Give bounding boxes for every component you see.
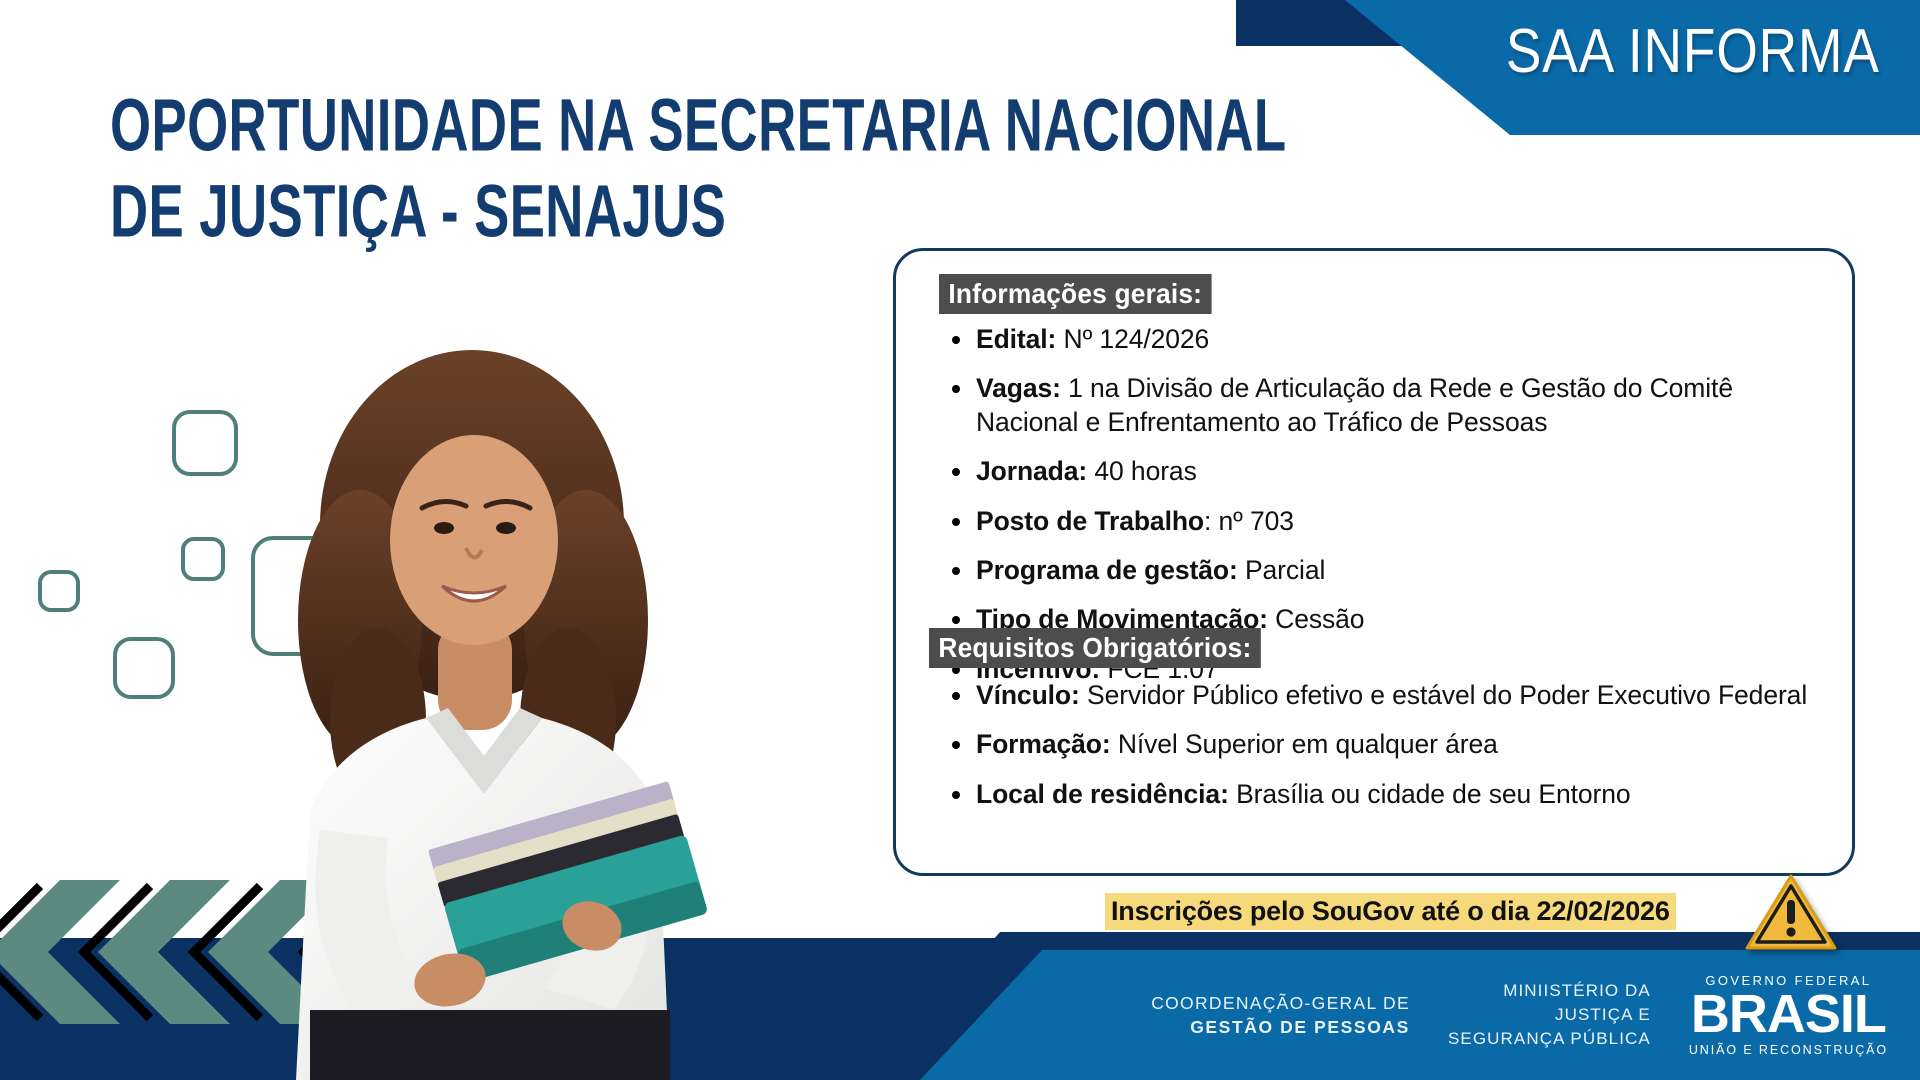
posto-value: : nº 703 — [1204, 506, 1294, 536]
inscription-deadline-text: Inscrições pelo SouGov até o dia 22/02/2… — [1105, 893, 1676, 930]
movimentacao-value: Cessão — [1275, 604, 1364, 634]
formacao-value: Nível Superior em qualquer área — [1118, 729, 1498, 759]
poster-canvas: SAA INFORMA OPORTUNIDADE NA SECRETARIA N… — [0, 0, 1920, 1080]
residencia-value: Brasília ou cidade de seu Entorno — [1236, 779, 1630, 809]
list-item-posto: Posto de Trabalho: nº 703 — [934, 505, 1834, 538]
page-title: OPORTUNIDADE NA SECRETARIA NACIONAL DE J… — [110, 82, 1287, 253]
info-card: Informações gerais: Edital: Nº 124/2026 … — [893, 248, 1855, 876]
warning-triangle-icon — [1745, 872, 1837, 952]
programa-value: Parcial — [1245, 555, 1325, 585]
list-item-edital: Edital: Nº 124/2026 — [934, 323, 1834, 356]
formacao-label: Formação: — [976, 729, 1111, 759]
requirements-list: Vínculo: Servidor Público efetivo e está… — [934, 679, 1834, 827]
cggp-line1: COORDENAÇÃO-GERAL DE — [1151, 993, 1410, 1013]
list-item-vagas: Vagas: 1 na Divisão de Articulação da Re… — [934, 372, 1834, 439]
residencia-label: Local de residência: — [976, 779, 1229, 809]
posto-label: Posto de Trabalho — [976, 506, 1204, 536]
vagas-label: Vagas: — [976, 373, 1061, 403]
list-item-residencia: Local de residência: Brasília ou cidade … — [934, 778, 1834, 811]
logo-brasil-gov: GOVERNO FEDERAL BRASIL UNIÃO E RECONSTRU… — [1689, 973, 1888, 1057]
list-item-formacao: Formação: Nível Superior em qualquer áre… — [934, 728, 1834, 761]
decorative-square — [38, 570, 80, 612]
logo-ministry: MINIISTÉRIO DA JUSTIÇA E SEGURANÇA PÚBLI… — [1448, 979, 1651, 1050]
ministry-line2: JUSTIÇA E — [1448, 1003, 1651, 1027]
ministry-line1: MINIISTÉRIO DA — [1448, 979, 1651, 1003]
list-item-jornada: Jornada: 40 horas — [934, 455, 1834, 488]
edital-value: Nº 124/2026 — [1064, 324, 1210, 354]
list-item-vinculo: Vínculo: Servidor Público efetivo e está… — [934, 679, 1834, 712]
footer-logos: COORDENAÇÃO-GERAL DE GESTÃO DE PESSOAS M… — [920, 950, 1920, 1080]
ministry-line3: SEGURANÇA PÚBLICA — [1448, 1027, 1651, 1051]
list-item-programa: Programa de gestão: Parcial — [934, 554, 1834, 587]
brasil-wordmark: BRASIL — [1689, 990, 1888, 1040]
cggp-line2: GESTÃO DE PESSOAS — [1151, 1015, 1410, 1039]
brasil-bottom-label: UNIÃO E RECONSTRUÇÃO — [1689, 1043, 1888, 1057]
section-header-general: Informações gerais: — [939, 274, 1212, 314]
vagas-value: 1 na Divisão de Articulação da Rede e Ge… — [976, 373, 1733, 436]
programa-label: Programa de gestão: — [976, 555, 1238, 585]
section-header-requirements: Requisitos Obrigatórios: — [929, 628, 1261, 668]
edital-label: Edital: — [976, 324, 1056, 354]
page-title-line2: DE JUSTIÇA - SENAJUS — [110, 168, 1287, 254]
jornada-label: Jornada: — [976, 456, 1087, 486]
person-photo — [200, 290, 760, 1080]
vinculo-value: Servidor Público efetivo e estável do Po… — [1087, 680, 1807, 710]
vinculo-label: Vínculo: — [976, 680, 1080, 710]
logo-cggp: COORDENAÇÃO-GERAL DE GESTÃO DE PESSOAS — [1151, 991, 1410, 1039]
saa-informa-title: SAA INFORMA — [1506, 16, 1880, 87]
jornada-value: 40 horas — [1094, 456, 1196, 486]
page-title-line1: OPORTUNIDADE NA SECRETARIA NACIONAL — [110, 83, 1287, 166]
decorative-square — [113, 637, 175, 699]
